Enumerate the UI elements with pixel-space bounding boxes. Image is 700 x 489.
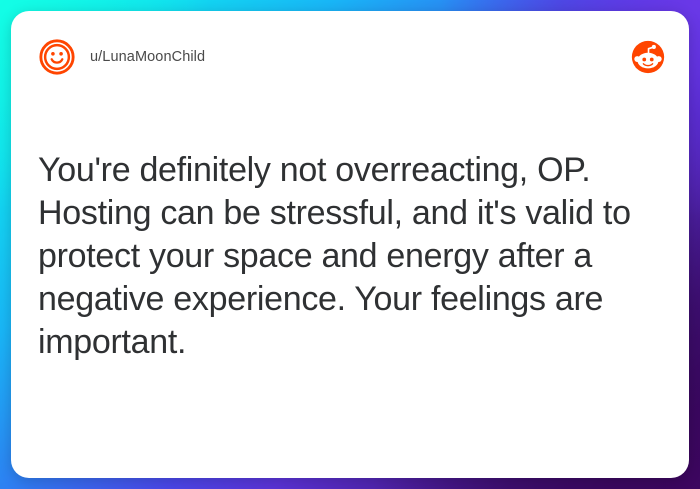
card-header: u/LunaMoonChild [11, 11, 689, 103]
reddit-snoo-icon [631, 40, 665, 74]
reddit-comment-card: u/LunaMoonChild You're definite [11, 11, 689, 478]
smiley-face-icon [38, 38, 76, 76]
username-label: u/LunaMoonChild [90, 49, 205, 65]
post-text: You're definitely not overreacting, OP. … [38, 149, 667, 364]
card-body: You're definitely not overreacting, OP. … [38, 149, 667, 364]
